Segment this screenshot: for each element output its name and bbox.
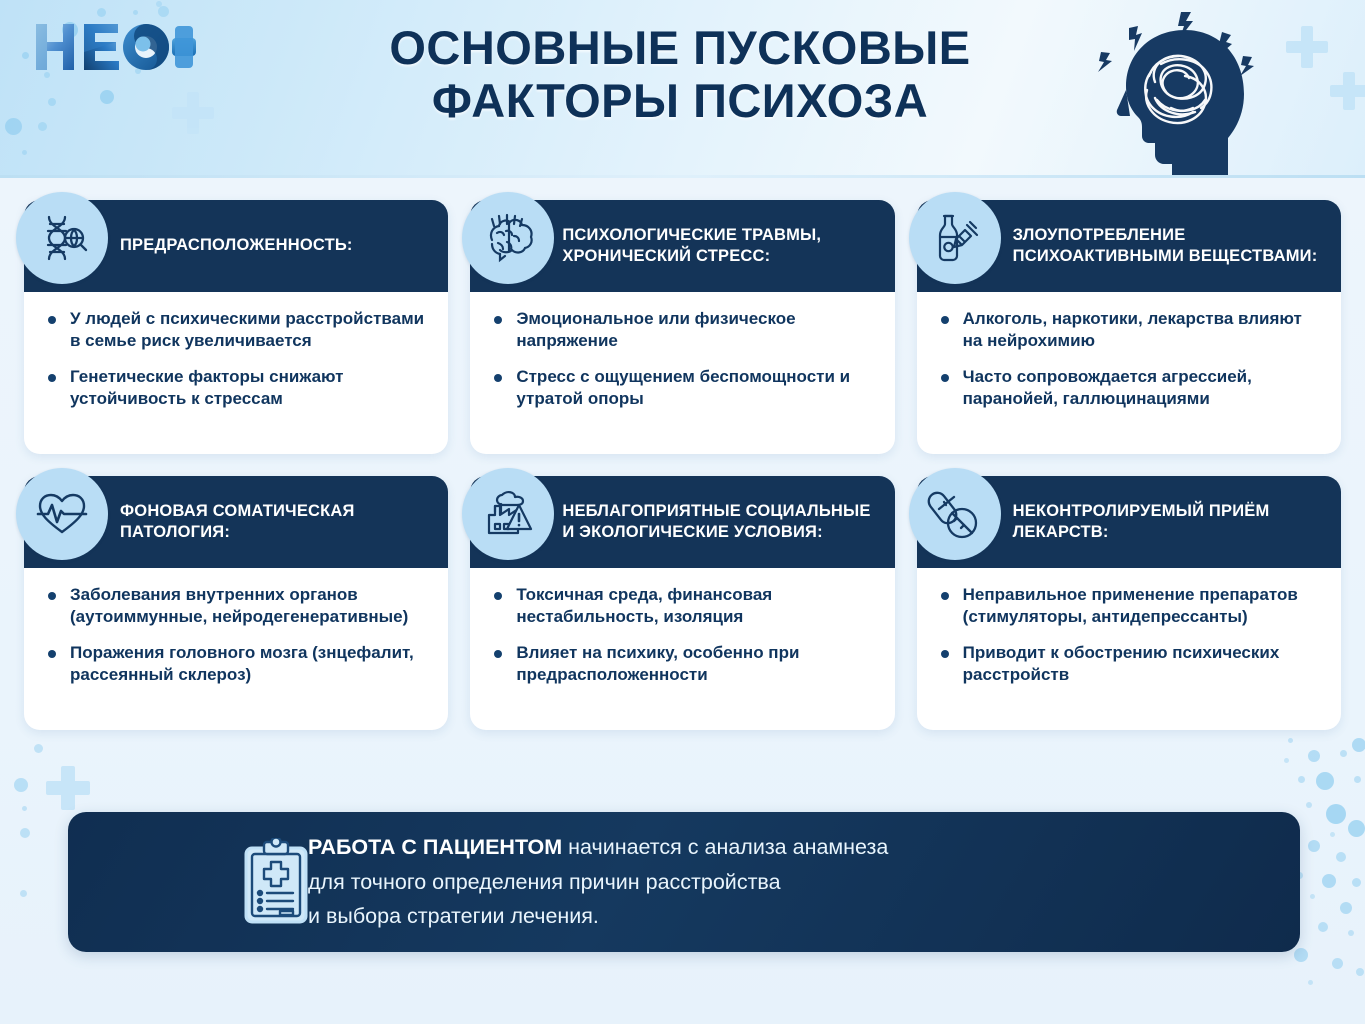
pills-icon [909, 468, 1001, 560]
deco-dot [1308, 750, 1320, 762]
summary-banner-text: РАБОТА С ПАЦИЕНТОМ начинается с анализа … [308, 830, 888, 933]
deco-dot [1308, 980, 1313, 985]
deco-cross [46, 766, 90, 810]
list-item: Эмоциональное или физическое напряжение [492, 308, 874, 353]
clipboard-medical-icon [240, 838, 312, 926]
deco-dot [100, 90, 114, 104]
deco-dot [1348, 930, 1354, 936]
bullet-list: Неправильное применение препаратов (стим… [939, 584, 1321, 687]
card-header: ПСИХОЛОГИЧЕСКИЕ ТРАВМЫ, ХРОНИЧЕСКИЙ СТРЕ… [470, 200, 894, 292]
deco-dot [1330, 832, 1335, 837]
deco-dot [1336, 852, 1346, 862]
bullet-list: Алкоголь, наркотики, лекарства влияют на… [939, 308, 1321, 411]
deco-dot [1288, 738, 1293, 743]
content-panel: ПРЕДРАСПОЛОЖЕННОСТЬ: У людей с психическ… [0, 178, 1365, 1024]
factor-card-somatic-pathology[interactable]: ФОНОВАЯ СОМАТИЧЕСКАЯ ПАТОЛОГИЯ: Заболева… [24, 476, 448, 730]
deco-dot [34, 744, 43, 753]
neo-plus-logo [28, 18, 198, 76]
card-body: У людей с психическими расстройствами в … [24, 292, 448, 454]
bullet-list: Заболевания внутренних органов (аутоимму… [46, 584, 428, 687]
deco-dot [1340, 902, 1352, 914]
banner-lead: РАБОТА С ПАЦИЕНТОМ [308, 835, 562, 859]
banner-line-3: и выбора стратегии лечения. [308, 899, 888, 933]
list-item: Заболевания внутренних органов (аутоимму… [46, 584, 428, 629]
card-title: ПРЕДРАСПОЛОЖЕННОСТЬ: [120, 235, 353, 256]
deco-cross [172, 92, 214, 134]
card-body: Неправильное применение препаратов (стим… [917, 568, 1341, 730]
list-item: Приводит к обострению психических расстр… [939, 642, 1321, 687]
title-line-2: ФАКТОРЫ ПСИХОЗА [330, 75, 1030, 128]
deco-dot [38, 122, 47, 131]
card-header: ФОНОВАЯ СОМАТИЧЕСКАЯ ПАТОЛОГИЯ: [24, 476, 448, 568]
deco-dot [1298, 776, 1305, 783]
deco-dot [1340, 750, 1347, 757]
stressed-brain-icon [462, 192, 554, 284]
deco-dot [20, 828, 30, 838]
list-item: Токсичная среда, финансовая нестабильнос… [492, 584, 874, 629]
list-item: Влияет на психику, особенно при предрасп… [492, 642, 874, 687]
list-item: Поражения головного мозга (знцефалит, ра… [46, 642, 428, 687]
deco-dot [1348, 820, 1365, 837]
card-title: НЕКОНТРОЛИРУЕМЫЙ ПРИЁМ ЛЕКАРСТВ: [1013, 501, 1325, 543]
deco-dot [1316, 772, 1334, 790]
infographic-root: ОСНОВНЫЕ ПУСКОВЫЕ ФАКТОРЫ ПСИХОЗА [0, 0, 1365, 1024]
deco-dot [1354, 776, 1361, 783]
deco-dot [1306, 802, 1312, 808]
header-band: ОСНОВНЫЕ ПУСКОВЫЕ ФАКТОРЫ ПСИХОЗА [0, 0, 1365, 178]
deco-dot [1326, 804, 1346, 824]
deco-dot [1352, 878, 1361, 887]
summary-banner: РАБОТА С ПАЦИЕНТОМ начинается с анализа … [68, 812, 1300, 952]
deco-dot [1318, 922, 1328, 932]
head-tangled-thoughts-icon [1085, 4, 1275, 178]
list-item: Алкоголь, наркотики, лекарства влияют на… [939, 308, 1321, 353]
factor-card-social-ecological[interactable]: НЕБЛАГОПРИЯТНЫЕ СОЦИАЛЬНЫЕ И ЭКОЛОГИЧЕСК… [470, 476, 894, 730]
deco-dot [133, 10, 138, 15]
deco-dot [22, 150, 27, 155]
deco-dot [1322, 874, 1336, 888]
deco-dot [14, 778, 28, 792]
banner-line-2: для точного определения причин расстройс… [308, 865, 888, 899]
card-header: НЕБЛАГОПРИЯТНЫЕ СОЦИАЛЬНЫЕ И ЭКОЛОГИЧЕСК… [470, 476, 894, 568]
deco-cross [1286, 26, 1328, 68]
deco-dot [48, 98, 56, 106]
card-title: ЗЛОУПОТРЕБЛЕНИЕ ПСИХОАКТИВНЫМИ ВЕЩЕСТВАМ… [1013, 225, 1325, 267]
bullet-list: У людей с психическими расстройствами в … [46, 308, 428, 411]
card-header: ЗЛОУПОТРЕБЛЕНИЕ ПСИХОАКТИВНЫМИ ВЕЩЕСТВАМ… [917, 200, 1341, 292]
list-item: Часто сопровождается агрессией, паранойе… [939, 366, 1321, 411]
factor-card-grid: ПРЕДРАСПОЛОЖЕННОСТЬ: У людей с психическ… [24, 200, 1341, 730]
card-header: НЕКОНТРОЛИРУЕМЫЙ ПРИЁМ ЛЕКАРСТВ: [917, 476, 1341, 568]
factor-card-trauma-stress[interactable]: ПСИХОЛОГИЧЕСКИЕ ТРАВМЫ, ХРОНИЧЕСКИЙ СТРЕ… [470, 200, 894, 454]
deco-dot [1294, 948, 1308, 962]
list-item: У людей с психическими расстройствами в … [46, 308, 428, 353]
page-title: ОСНОВНЫЕ ПУСКОВЫЕ ФАКТОРЫ ПСИХОЗА [330, 22, 1030, 127]
factory-warning-icon [462, 468, 554, 560]
card-body: Заболевания внутренних органов (аутоимму… [24, 568, 448, 730]
deco-dot [1332, 958, 1343, 969]
card-title: ПСИХОЛОГИЧЕСКИЕ ТРАВМЫ, ХРОНИЧЕСКИЙ СТРЕ… [562, 225, 878, 267]
deco-dot [1352, 738, 1365, 752]
deco-dot [156, 1, 162, 7]
banner-line-1: РАБОТА С ПАЦИЕНТОМ начинается с анализа … [308, 830, 888, 864]
card-body: Алкоголь, наркотики, лекарства влияют на… [917, 292, 1341, 454]
card-title: ФОНОВАЯ СОМАТИЧЕСКАЯ ПАТОЛОГИЯ: [120, 501, 432, 543]
deco-dot [20, 890, 27, 897]
deco-dot [1284, 758, 1289, 763]
card-title: НЕБЛАГОПРИЯТНЫЕ СОЦИАЛЬНЫЕ И ЭКОЛОГИЧЕСК… [562, 501, 878, 543]
card-body: Токсичная среда, финансовая нестабильнос… [470, 568, 894, 730]
factor-card-substance-abuse[interactable]: ЗЛОУПОТРЕБЛЕНИЕ ПСИХОАКТИВНЫМИ ВЕЩЕСТВАМ… [917, 200, 1341, 454]
deco-dot [1308, 840, 1320, 852]
title-line-1: ОСНОВНЫЕ ПУСКОВЫЕ [330, 22, 1030, 75]
deco-dot [5, 118, 22, 135]
deco-dot [1310, 894, 1315, 899]
factor-card-predisposition[interactable]: ПРЕДРАСПОЛОЖЕННОСТЬ: У людей с психическ… [24, 200, 448, 454]
factor-card-uncontrolled-medication[interactable]: НЕКОНТРОЛИРУЕМЫЙ ПРИЁМ ЛЕКАРСТВ: Неправи… [917, 476, 1341, 730]
card-body: Эмоциональное или физическое напряжение … [470, 292, 894, 454]
list-item: Генетические факторы снижают устойчивост… [46, 366, 428, 411]
heart-pulse-icon [16, 468, 108, 560]
banner-rest: начинается с анализа анамнеза [562, 835, 888, 859]
bullet-list: Токсичная среда, финансовая нестабильнос… [492, 584, 874, 687]
bottle-syringe-icon [909, 192, 1001, 284]
card-header: ПРЕДРАСПОЛОЖЕННОСТЬ: [24, 200, 448, 292]
deco-dot [158, 6, 169, 17]
bullet-list: Эмоциональное или физическое напряжение … [492, 308, 874, 411]
list-item: Стресс с ощущением беспомощности и утрат… [492, 366, 874, 411]
dna-magnifier-icon [16, 192, 108, 284]
deco-cross [1330, 72, 1365, 110]
deco-dot [22, 806, 27, 811]
deco-dot [97, 8, 106, 17]
list-item: Неправильное применение препаратов (стим… [939, 584, 1321, 629]
deco-dot [1356, 968, 1364, 976]
